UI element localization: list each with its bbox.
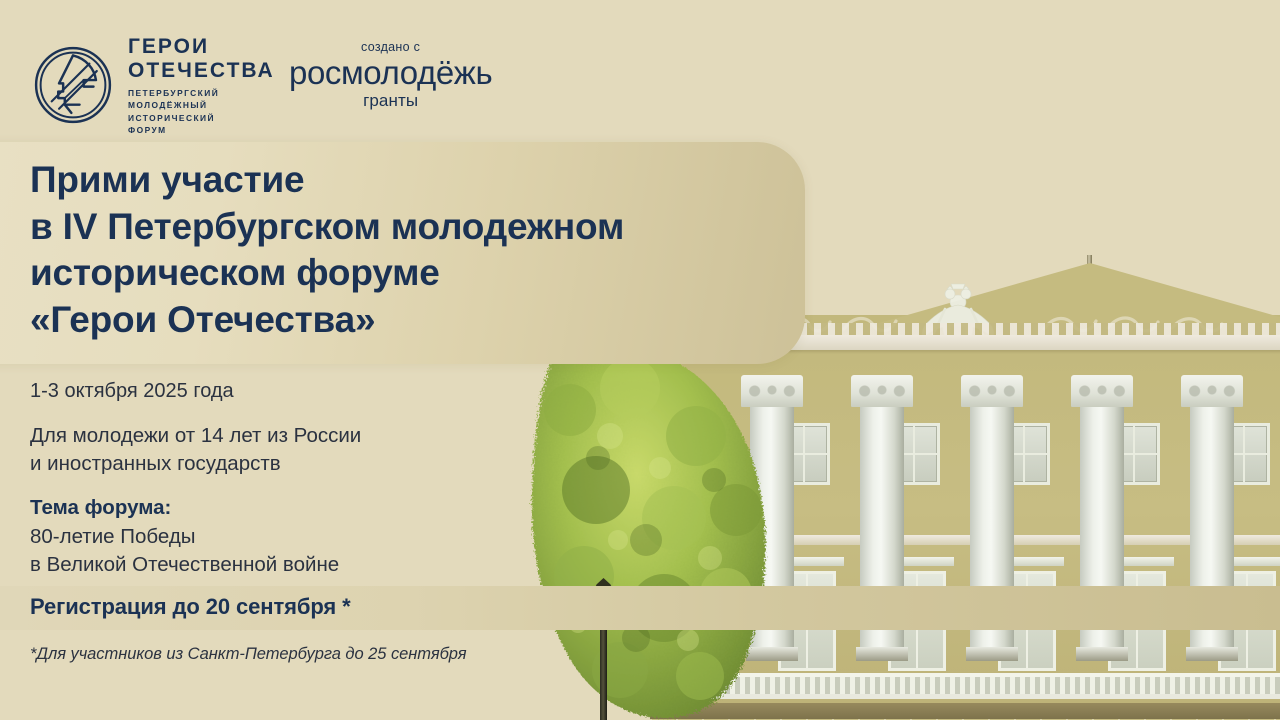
theme-label: Тема форума: xyxy=(30,496,500,520)
column-capital xyxy=(961,375,1023,407)
partner-prefix-label: создано с xyxy=(289,40,492,54)
headline-line-2: в IV Петербургском молодежном xyxy=(30,204,790,251)
headline-line-4: «Герои Отечества» xyxy=(30,297,790,344)
column-base xyxy=(1076,647,1128,661)
soldier-profile-circle-emblem xyxy=(32,44,114,126)
partner-suffix-label: гранты xyxy=(289,91,492,111)
column-capital xyxy=(1181,375,1243,407)
registration-footnote: *Для участников из Санкт-Петербурга до 2… xyxy=(30,645,467,664)
theme-line-2: в Великой Отечественной войне xyxy=(30,551,500,579)
green-tree xyxy=(500,340,780,720)
logo-subtitle-line-3: ИСТОРИЧЕСКИЙ xyxy=(128,112,275,124)
logo-subtitle-line-2: МОЛОДЁЖНЫЙ xyxy=(128,99,275,111)
rosmolodezh-grants-logo: создано с росмолодёжь гранты xyxy=(289,40,492,111)
column-base xyxy=(966,647,1018,661)
logo-subtitle: ПЕТЕРБУРГСКИЙ МОЛОДЁЖНЫЙ ИСТОРИЧЕСКИЙ ФО… xyxy=(128,87,275,137)
theme-text: 80-летие Победы в Великой Отечественной … xyxy=(30,523,500,578)
column-capital xyxy=(1071,375,1133,407)
headline-line-1: Прими участие xyxy=(30,157,790,204)
column-base xyxy=(1186,647,1238,661)
event-details: 1-3 октября 2025 года Для молодежи от 14… xyxy=(30,378,500,579)
registration-deadline: Регистрация до 20 сентября * xyxy=(30,594,351,620)
partner-name: росмолодёжь xyxy=(289,56,492,90)
logo-title-line-2: ОТЕЧЕСТВА xyxy=(128,59,275,83)
forum-logo-text: ГЕРОИ ОТЕЧЕСТВА ПЕТЕРБУРГСКИЙ МОЛОДЁЖНЫЙ… xyxy=(128,33,275,137)
theme-line-1: 80-летие Победы xyxy=(30,523,500,551)
logo-subtitle-line-1: ПЕТЕРБУРГСКИЙ xyxy=(128,87,275,99)
event-audience: Для молодежи от 14 лет из России и иност… xyxy=(30,422,500,477)
poster-root: Прими участие в IV Петербургском молодеж… xyxy=(0,0,1280,720)
forum-logo: ГЕРОИ ОТЕЧЕСТВА ПЕТЕРБУРГСКИЙ МОЛОДЁЖНЫЙ… xyxy=(32,33,275,137)
logo-subtitle-line-4: ФОРУМ xyxy=(128,124,275,136)
audience-line-1: Для молодежи от 14 лет из России xyxy=(30,422,500,450)
headline-line-3: историческом форуме xyxy=(30,250,790,297)
column-capital xyxy=(851,375,913,407)
page-title: Прими участие в IV Петербургском молодеж… xyxy=(30,157,790,343)
audience-line-2: и иностранных государств xyxy=(30,450,500,478)
column-base xyxy=(856,647,908,661)
event-date: 1-3 октября 2025 года xyxy=(30,378,500,404)
logo-title-line-1: ГЕРОИ xyxy=(128,35,275,59)
